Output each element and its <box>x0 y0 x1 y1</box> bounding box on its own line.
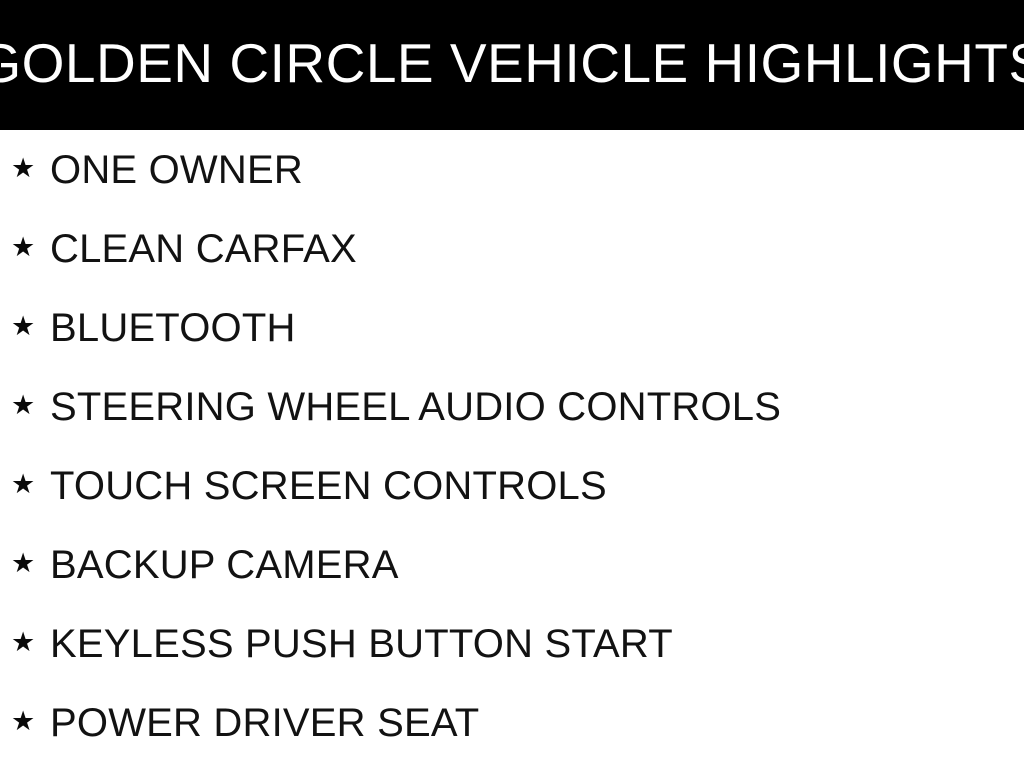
vehicle-highlights-list: ★ ONE OWNER ★ CLEAN CARFAX ★ BLUETOOTH ★… <box>0 130 1024 762</box>
highlight-label: TOUCH SCREEN CONTROLS <box>50 466 607 506</box>
list-item: ★ ONE OWNER <box>0 130 1024 209</box>
highlight-label: ONE OWNER <box>50 150 303 190</box>
star-icon: ★ <box>11 471 35 498</box>
star-icon: ★ <box>11 629 35 656</box>
star-icon: ★ <box>11 155 35 182</box>
vehicle-highlights-page: GOLDEN CIRCLE VEHICLE HIGHLIGHTS ★ ONE O… <box>0 0 1024 768</box>
list-item: ★ BLUETOOTH <box>0 288 1024 367</box>
highlight-label: BLUETOOTH <box>50 308 296 348</box>
list-item: ★ BACKUP CAMERA <box>0 525 1024 604</box>
page-title: GOLDEN CIRCLE VEHICLE HIGHLIGHTS <box>0 36 1024 95</box>
highlight-label: CLEAN CARFAX <box>50 229 357 269</box>
list-item: ★ STEERING WHEEL AUDIO CONTROLS <box>0 367 1024 446</box>
star-icon: ★ <box>11 708 35 735</box>
highlight-label: POWER DRIVER SEAT <box>50 703 479 743</box>
header-banner: GOLDEN CIRCLE VEHICLE HIGHLIGHTS <box>0 0 1024 130</box>
highlight-label: BACKUP CAMERA <box>50 545 399 585</box>
star-icon: ★ <box>11 550 35 577</box>
list-item: ★ CLEAN CARFAX <box>0 209 1024 288</box>
list-item: ★ TOUCH SCREEN CONTROLS <box>0 446 1024 525</box>
list-item: ★ POWER DRIVER SEAT <box>0 683 1024 762</box>
list-item: ★ KEYLESS PUSH BUTTON START <box>0 604 1024 683</box>
star-icon: ★ <box>11 234 35 261</box>
star-icon: ★ <box>11 392 35 419</box>
star-icon: ★ <box>11 313 35 340</box>
highlight-label: KEYLESS PUSH BUTTON START <box>50 624 673 664</box>
highlight-label: STEERING WHEEL AUDIO CONTROLS <box>50 387 781 427</box>
